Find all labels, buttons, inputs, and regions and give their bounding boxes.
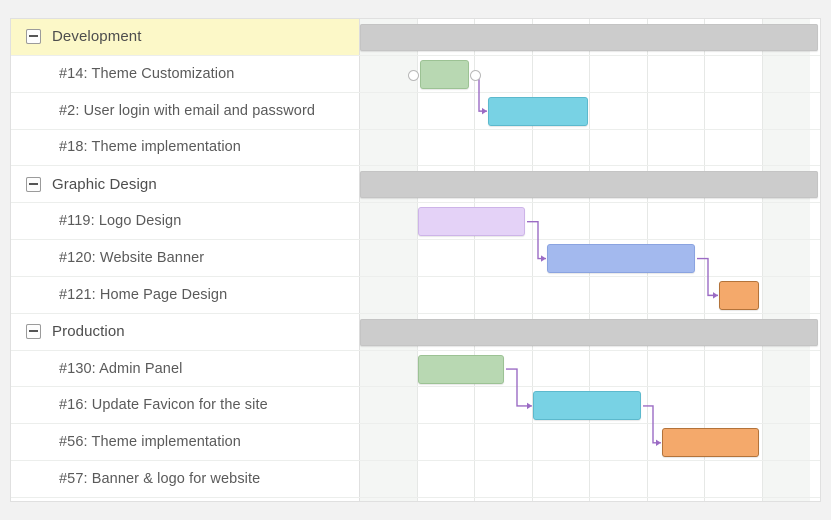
task-bar[interactable] bbox=[420, 60, 469, 89]
task-bar[interactable] bbox=[533, 391, 641, 420]
summary-bar-production[interactable] bbox=[360, 319, 818, 346]
task-bar[interactable] bbox=[719, 281, 759, 310]
task-bar[interactable] bbox=[488, 97, 588, 126]
task-bar[interactable] bbox=[547, 244, 695, 273]
bar-end-handle[interactable] bbox=[470, 70, 481, 81]
bar-start-handle[interactable] bbox=[408, 70, 419, 81]
gantt-bars bbox=[11, 19, 820, 501]
task-bar[interactable] bbox=[418, 207, 525, 236]
summary-bar-development[interactable] bbox=[360, 24, 818, 51]
summary-bar-graphic-design[interactable] bbox=[360, 171, 818, 198]
task-bar[interactable] bbox=[662, 428, 759, 457]
gantt-chart: Development#14: Theme Customization#2: U… bbox=[10, 18, 821, 502]
task-bar[interactable] bbox=[418, 355, 504, 384]
